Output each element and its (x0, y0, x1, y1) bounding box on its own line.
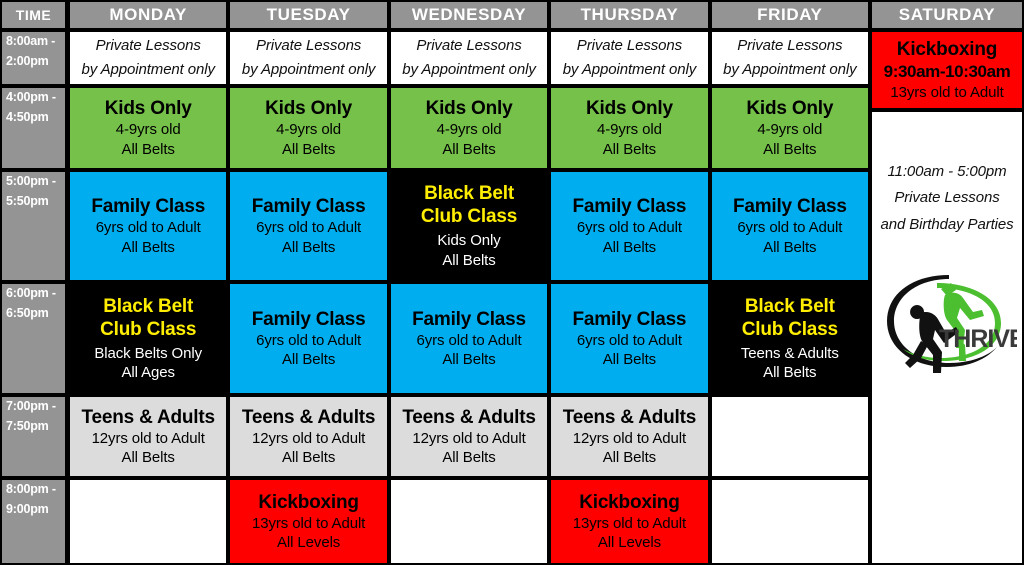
private-lessons-label: Private Lessons (894, 188, 999, 208)
day-header-thursday: THURSDAY (549, 0, 709, 30)
class-ages: Black Belts Only (94, 344, 202, 363)
class-title: Teens & Adults (563, 406, 696, 429)
class-cell-fri-1900-empty (710, 395, 870, 478)
class-belts: All Belts (603, 448, 656, 467)
class-cell-sat-private-lessons[interactable]: 11:00am - 5:00pm Private Lessons and Bir… (870, 110, 1024, 565)
class-title: Teens & Adults (82, 406, 215, 429)
time-end: 7:50pm (6, 420, 49, 433)
class-title: Private Lessons (577, 36, 682, 56)
schedule-row: 6:00pm - 6:50pm Black Belt Club Class Bl… (0, 282, 870, 395)
class-cell-tue-0800[interactable]: Private Lessons by Appointment only (228, 30, 388, 86)
class-cell-fri-1800[interactable]: Black Belt Club Class Teens & Adults All… (710, 282, 870, 395)
class-title: Family Class (252, 308, 366, 331)
class-ages: 6yrs old to Adult (96, 218, 201, 237)
class-cell-wed-2000-empty (389, 478, 549, 565)
class-ages: Kids Only (437, 231, 500, 250)
class-ages: 6yrs old to Adult (737, 218, 842, 237)
class-title: Family Class (412, 308, 526, 331)
class-cell-fri-2000-empty (710, 478, 870, 565)
class-cell-mon-1700[interactable]: Family Class 6yrs old to Adult All Belts (68, 170, 228, 282)
class-cell-fri-1700[interactable]: Family Class 6yrs old to Adult All Belts (710, 170, 870, 282)
saturday-column: SATURDAY Kickboxing 9:30am-10:30am 13yrs… (870, 0, 1024, 565)
class-cell-mon-1900[interactable]: Teens & Adults 12yrs old to Adult All Be… (68, 395, 228, 478)
private-lessons-time: 11:00am - 5:00pm (887, 162, 1006, 182)
class-belts: All Belts (442, 448, 495, 467)
time-start: 7:00pm - (6, 400, 56, 413)
class-title: Family Class (733, 195, 847, 218)
class-title: Kids Only (586, 97, 673, 120)
class-belts: All Belts (763, 140, 816, 159)
class-detail: by Appointment only (723, 60, 856, 80)
day-header-tuesday: TUESDAY (228, 0, 388, 30)
class-ages: 12yrs old to Adult (92, 429, 205, 448)
class-belts: All Belts (763, 238, 816, 257)
class-title: Kids Only (105, 97, 192, 120)
class-belts: All Belts (442, 251, 495, 270)
time-start: 8:00am - (6, 35, 55, 48)
class-belts: All Belts (442, 140, 495, 159)
class-ages: 12yrs old to Adult (412, 429, 525, 448)
time-slot-cell: 8:00pm - 9:00pm (0, 478, 68, 565)
class-detail: by Appointment only (81, 60, 214, 80)
class-title-line1: Black Belt (424, 182, 514, 205)
time-end: 6:50pm (6, 307, 49, 320)
time-start: 4:00pm - (6, 91, 56, 104)
time-end: 2:00pm (6, 55, 49, 68)
class-cell-tue-1600[interactable]: Kids Only 4-9yrs old All Belts (228, 86, 388, 170)
class-belts: All Belts (122, 448, 175, 467)
class-cell-fri-0800[interactable]: Private Lessons by Appointment only (710, 30, 870, 86)
class-cell-thu-1900[interactable]: Teens & Adults 12yrs old to Adult All Be… (549, 395, 709, 478)
class-ages: 13yrs old to Adult (890, 83, 1003, 102)
class-title: Kids Only (265, 97, 352, 120)
class-cell-tue-2000[interactable]: Kickboxing 13yrs old to Adult All Levels (228, 478, 388, 565)
class-ages: 13yrs old to Adult (573, 514, 686, 533)
class-ages: 6yrs old to Adult (577, 331, 682, 350)
class-title: Teens & Adults (402, 406, 535, 429)
class-cell-wed-1600[interactable]: Kids Only 4-9yrs old All Belts (389, 86, 549, 170)
schedule-row: 7:00pm - 7:50pm Teens & Adults 12yrs old… (0, 395, 870, 478)
time-slot-cell: 7:00pm - 7:50pm (0, 395, 68, 478)
class-cell-tue-1900[interactable]: Teens & Adults 12yrs old to Adult All Be… (228, 395, 388, 478)
class-ages: 4-9yrs old (116, 120, 181, 139)
class-cell-wed-1800[interactable]: Family Class 6yrs old to Adult All Belts (389, 282, 549, 395)
class-cell-mon-0800[interactable]: Private Lessons by Appointment only (68, 30, 228, 86)
schedule-row: 8:00am - 2:00pm Private Lessons by Appoi… (0, 30, 870, 86)
class-title: Private Lessons (256, 36, 361, 56)
class-belts: All Belts (122, 238, 175, 257)
class-title: Private Lessons (96, 36, 201, 56)
class-title: Private Lessons (416, 36, 521, 56)
class-cell-thu-1600[interactable]: Kids Only 4-9yrs old All Belts (549, 86, 709, 170)
class-ages: 12yrs old to Adult (252, 429, 365, 448)
birthday-parties-label: and Birthday Parties (880, 215, 1013, 235)
class-title: Family Class (91, 195, 205, 218)
class-cell-mon-1800[interactable]: Black Belt Club Class Black Belts Only A… (68, 282, 228, 395)
schedule-row: 8:00pm - 9:00pm Kickboxing 13yrs old to … (0, 478, 870, 565)
time-start: 5:00pm - (6, 175, 56, 188)
class-time: 9:30am-10:30am (884, 61, 1011, 82)
thrive7-logo: THRIVE7 (877, 269, 1017, 377)
schedule-row: 4:00pm - 4:50pm Kids Only 4-9yrs old All… (0, 86, 870, 170)
class-title: Kids Only (746, 97, 833, 120)
class-cell-sat-kickboxing[interactable]: Kickboxing 9:30am-10:30am 13yrs old to A… (870, 30, 1024, 110)
class-levels: All Levels (598, 533, 661, 552)
class-ages: 4-9yrs old (597, 120, 662, 139)
class-title: Family Class (573, 308, 687, 331)
day-header-wednesday: WEDNESDAY (389, 0, 549, 30)
class-title: Kids Only (426, 97, 513, 120)
class-cell-fri-1600[interactable]: Kids Only 4-9yrs old All Belts (710, 86, 870, 170)
class-title: Kickboxing (897, 38, 997, 61)
class-cell-thu-2000[interactable]: Kickboxing 13yrs old to Adult All Levels (549, 478, 709, 565)
class-cell-wed-1700[interactable]: Black Belt Club Class Kids Only All Belt… (389, 170, 549, 282)
class-title: Family Class (252, 195, 366, 218)
class-cell-wed-0800[interactable]: Private Lessons by Appointment only (389, 30, 549, 86)
time-end: 4:50pm (6, 111, 49, 124)
weekday-grid: TIME MONDAY TUESDAY WEDNESDAY THURSDAY F… (0, 0, 870, 565)
time-slot-cell: 4:00pm - 4:50pm (0, 86, 68, 170)
class-detail: by Appointment only (242, 60, 375, 80)
class-ages: 6yrs old to Adult (417, 331, 522, 350)
class-title: Kickboxing (579, 491, 679, 514)
class-ages: 6yrs old to Adult (577, 218, 682, 237)
time-end: 5:50pm (6, 195, 49, 208)
class-ages: 13yrs old to Adult (252, 514, 365, 533)
class-ages: 6yrs old to Adult (256, 331, 361, 350)
class-belts: All Belts (282, 140, 335, 159)
thrive7-logo-icon: THRIVE7 (877, 269, 1017, 377)
class-belts: All Belts (282, 448, 335, 467)
class-ages: 4-9yrs old (757, 120, 822, 139)
class-title: Teens & Adults (242, 406, 375, 429)
class-cell-thu-1800[interactable]: Family Class 6yrs old to Adult All Belts (549, 282, 709, 395)
time-start: 8:00pm - (6, 483, 56, 496)
time-start: 6:00pm - (6, 287, 56, 300)
class-schedule-table: TIME MONDAY TUESDAY WEDNESDAY THURSDAY F… (0, 0, 1024, 565)
class-title: Family Class (573, 195, 687, 218)
class-cell-tue-1800[interactable]: Family Class 6yrs old to Adult All Belts (228, 282, 388, 395)
class-belts: All Belts (122, 140, 175, 159)
time-column-header: TIME (0, 0, 68, 30)
class-belts: All Belts (442, 350, 495, 369)
class-belts: All Belts (603, 140, 656, 159)
class-cell-thu-1700[interactable]: Family Class 6yrs old to Adult All Belts (549, 170, 709, 282)
class-cell-thu-0800[interactable]: Private Lessons by Appointment only (549, 30, 709, 86)
class-cell-mon-1600[interactable]: Kids Only 4-9yrs old All Belts (68, 86, 228, 170)
class-title: Kickboxing (258, 491, 358, 514)
class-detail: by Appointment only (563, 60, 696, 80)
class-belts: All Belts (763, 363, 816, 382)
schedule-row: 5:00pm - 5:50pm Family Class 6yrs old to… (0, 170, 870, 282)
day-header-monday: MONDAY (68, 0, 228, 30)
class-cell-mon-2000-empty (68, 478, 228, 565)
class-belts: All Belts (282, 350, 335, 369)
class-belts: All Belts (282, 238, 335, 257)
class-title-line1: Black Belt (745, 295, 835, 318)
class-belts: All Ages (122, 363, 175, 382)
class-title-line2: Club Class (421, 205, 517, 228)
time-slot-cell: 5:00pm - 5:50pm (0, 170, 68, 282)
day-header-saturday: SATURDAY (870, 0, 1024, 30)
day-header-friday: FRIDAY (710, 0, 870, 30)
class-ages: 12yrs old to Adult (573, 429, 686, 448)
class-ages: 4-9yrs old (437, 120, 502, 139)
time-slot-cell: 6:00pm - 6:50pm (0, 282, 68, 395)
class-belts: All Belts (603, 350, 656, 369)
table-header-row: TIME MONDAY TUESDAY WEDNESDAY THURSDAY F… (0, 0, 870, 30)
time-slot-cell: 8:00am - 2:00pm (0, 30, 68, 86)
logo-wordmark: THRIVE7 (939, 325, 1017, 353)
class-ages: 4-9yrs old (276, 120, 341, 139)
class-title: Private Lessons (737, 36, 842, 56)
class-cell-tue-1700[interactable]: Family Class 6yrs old to Adult All Belts (228, 170, 388, 282)
class-ages: 6yrs old to Adult (256, 218, 361, 237)
class-levels: All Levels (277, 533, 340, 552)
time-end: 9:00pm (6, 503, 49, 516)
class-title-line1: Black Belt (103, 295, 193, 318)
class-title-line2: Club Class (100, 318, 196, 341)
class-detail: by Appointment only (402, 60, 535, 80)
class-title-line2: Club Class (742, 318, 838, 341)
class-belts: All Belts (603, 238, 656, 257)
class-cell-wed-1900[interactable]: Teens & Adults 12yrs old to Adult All Be… (389, 395, 549, 478)
class-ages: Teens & Adults (741, 344, 839, 363)
